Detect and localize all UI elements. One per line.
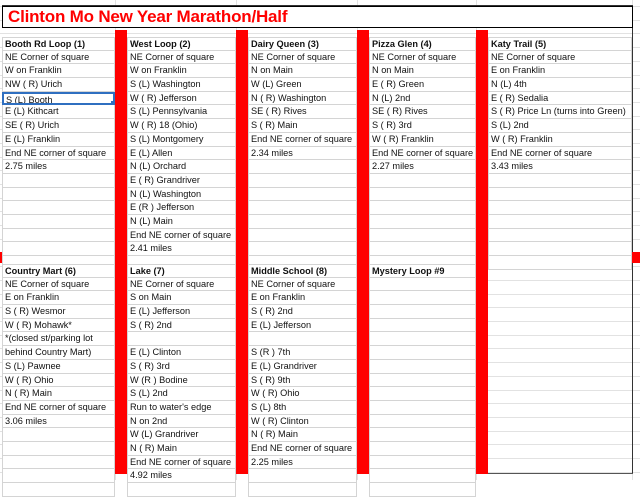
route-step-country-mart-0[interactable]: NE Corner of square [2,278,115,292]
route-step-west-loop-4[interactable]: S (L) Pennsylvania [127,105,236,119]
route-step-middle-school-8[interactable]: W ( R) Ohio [248,387,357,401]
route-step-empty[interactable] [248,469,357,483]
vertical-separator-bar [236,30,248,252]
route-step-empty[interactable] [2,174,115,188]
route-step-empty[interactable] [488,201,632,215]
page-title: Clinton Mo New Year Marathon/Half [8,7,287,27]
route-step-west-loop-12[interactable]: N (L) Main [127,215,236,229]
route-step-katy-trail-1[interactable]: E on Franklin [488,64,632,78]
route-step-empty[interactable] [488,256,632,270]
route-step-middle-school-5[interactable]: S (R ) 7th [248,346,357,360]
route-step-katy-trail-4[interactable]: S ( R) Price Ln (turns into Green) [488,105,632,119]
gridline-row [0,33,640,34]
vertical-separator-bar [357,30,369,252]
route-step-empty[interactable] [2,428,115,442]
route-step-empty[interactable] [488,229,632,243]
route-step-country-mart-10[interactable]: 3.06 miles [2,415,115,429]
vertical-separator-bar [357,262,369,474]
route-column-country-mart: Country Mart (6)NE Corner of squareE on … [2,264,115,497]
route-step-middle-school-11[interactable]: N ( R) Main [248,428,357,442]
route-step-booth-rd-loop-2[interactable]: NW ( R) Urich [2,78,115,92]
route-header-mystery-loop[interactable]: Mystery Loop #9 [369,264,476,278]
route-step-west-loop-10[interactable]: N (L) Washington [127,188,236,202]
route-step-empty[interactable] [248,188,357,202]
route-step-west-loop-2[interactable]: S (L) Washington [127,78,236,92]
route-step-empty[interactable] [369,428,476,442]
route-step-middle-school-2[interactable]: S ( R) 2nd [248,305,357,319]
route-step-empty[interactable] [2,215,115,229]
route-step-empty[interactable] [2,469,115,483]
vertical-separator-bar [236,262,248,474]
route-column-mystery-loop: Mystery Loop #9 [369,264,476,497]
route-header-katy-trail[interactable]: Katy Trail (5) [488,37,632,51]
selected-cell[interactable]: S (L) Booth [2,92,115,106]
route-step-west-loop-11[interactable]: E (R ) Jefferson [127,201,236,215]
route-step-empty[interactable] [2,456,115,470]
route-step-middle-school-0[interactable]: NE Corner of square [248,278,357,292]
route-step-lake-12[interactable]: N ( R) Main [127,442,236,456]
route-step-empty[interactable] [2,229,115,243]
route-column-middle-school: Middle School (8)NE Corner of squareE on… [248,264,357,497]
route-step-booth-rd-loop-6[interactable]: E (L) Franklin [2,133,115,147]
route-step-empty[interactable] [248,242,357,256]
route-step-katy-trail-3[interactable]: E ( R) Sedalia [488,92,632,106]
route-step-empty[interactable] [369,401,476,415]
route-column-west-loop: West Loop (2)NE Corner of squareW on Fra… [127,37,236,270]
route-step-middle-school-10[interactable]: W ( R) Clinton [248,415,357,429]
route-step-empty[interactable] [2,188,115,202]
route-step-lake-1[interactable]: S on Main [127,291,236,305]
route-step-empty[interactable] [369,278,476,292]
route-step-lake-9[interactable]: Run to water's edge [127,401,236,415]
route-step-empty[interactable] [369,305,476,319]
route-step-pizza-glen-0[interactable]: NE Corner of square [369,51,476,65]
route-header-dairy-queen[interactable]: Dairy Queen (3) [248,37,357,51]
route-step-country-mart-6[interactable]: S (L) Pawnee [2,360,115,374]
route-step-empty[interactable] [369,174,476,188]
route-step-booth-rd-loop-8[interactable]: 2.75 miles [2,160,115,174]
route-step-country-mart-2[interactable]: S ( R) Wesmor [2,305,115,319]
route-step-dairy-queen-1[interactable]: N on Main [248,64,357,78]
route-step-dairy-queen-6[interactable]: End NE corner of square [248,133,357,147]
route-step-katy-trail-2[interactable]: N (L) 4th [488,78,632,92]
route-step-west-loop-1[interactable]: W on Franklin [127,64,236,78]
route-step-middle-school-1[interactable]: E on Franklin [248,291,357,305]
route-step-dairy-queen-0[interactable]: NE Corner of square [248,51,357,65]
route-step-booth-rd-loop-0[interactable]: NE Corner of square [2,51,115,65]
route-step-lake-2[interactable]: E (L) Jefferson [127,305,236,319]
route-step-lake-8[interactable]: S (L) 2nd [127,387,236,401]
route-step-west-loop-0[interactable]: NE Corner of square [127,51,236,65]
route-step-pizza-glen-2[interactable]: E ( R) Green [369,78,476,92]
route-step-katy-trail-0[interactable]: NE Corner of square [488,51,632,65]
route-step-country-mart-7[interactable]: W ( R) Ohio [2,374,115,388]
route-step-empty[interactable] [369,188,476,202]
route-step-lake-0[interactable]: NE Corner of square [127,278,236,292]
route-step-empty[interactable] [248,229,357,243]
route-header-booth-rd-loop[interactable]: Booth Rd Loop (1) [2,37,115,51]
title-cell[interactable]: Clinton Mo New Year Marathon/Half [2,6,633,28]
route-step-empty[interactable] [2,483,115,497]
fill-handle[interactable] [110,100,115,105]
route-step-katy-trail-8[interactable]: 3.43 miles [488,160,632,174]
route-step-country-mart-9[interactable]: End NE corner of square [2,401,115,415]
route-header-west-loop[interactable]: West Loop (2) [127,37,236,51]
route-step-empty[interactable] [2,242,115,256]
route-header-country-mart[interactable]: Country Mart (6) [2,264,115,278]
route-step-empty[interactable] [369,319,476,333]
route-step-lake-11[interactable]: W (L) Grandriver [127,428,236,442]
route-step-west-loop-8[interactable]: N (L) Orchard [127,160,236,174]
route-step-pizza-glen-1[interactable]: N on Main [369,64,476,78]
vertical-separator-bar [476,262,488,474]
route-step-west-loop-7[interactable]: E (L) Allen [127,147,236,161]
route-step-empty[interactable] [369,456,476,470]
route-step-empty[interactable] [488,242,632,256]
route-column-lake: Lake (7)NE Corner of squareS on MainE (L… [127,264,236,497]
route-step-west-loop-6[interactable]: S (L) Montgomery [127,133,236,147]
route-step-empty[interactable] [369,469,476,483]
route-step-middle-school-7[interactable]: S ( R) 9th [248,374,357,388]
route-step-booth-rd-loop-1[interactable]: W on Franklin [2,64,115,78]
route-step-empty[interactable] [248,160,357,174]
route-step-lake-7[interactable]: W (R ) Bodine [127,374,236,388]
route-step-country-mart-1[interactable]: E on Franklin [2,291,115,305]
route-column-pizza-glen: Pizza Glen (4)NE Corner of squareN on Ma… [369,37,476,270]
route-step-empty[interactable] [369,374,476,388]
route-step-booth-rd-loop-5[interactable]: SE ( R) Urich [2,119,115,133]
route-step-empty[interactable] [2,442,115,456]
route-step-dairy-queen-7[interactable]: 2.34 miles [248,147,357,161]
route-step-empty[interactable] [488,188,632,202]
route-step-empty[interactable] [248,174,357,188]
route-step-empty[interactable] [369,332,476,346]
route-step-lake-14[interactable]: 4.92 miles [127,469,236,483]
vertical-separator-bar [115,262,127,474]
route-step-west-loop-14[interactable]: 2.41 miles [127,242,236,256]
route-step-empty[interactable] [369,415,476,429]
vertical-separator-bar [476,30,488,252]
route-column-dairy-queen: Dairy Queen (3)NE Corner of squareN on M… [248,37,357,270]
route-column-booth-rd-loop: Booth Rd Loop (1)NE Corner of squareW on… [2,37,115,270]
route-step-dairy-queen-4[interactable]: SE ( R) Rives [248,105,357,119]
route-step-lake-13[interactable]: End NE corner of square [127,456,236,470]
route-step-middle-school-3[interactable]: E (L) Jefferson [248,319,357,333]
route-step-middle-school-9[interactable]: S (L) 8th [248,401,357,415]
route-step-middle-school-13[interactable]: 2.25 miles [248,456,357,470]
route-step-empty[interactable] [369,360,476,374]
route-step-empty[interactable] [127,483,236,497]
route-step-lake-6[interactable]: S ( R) 3rd [127,360,236,374]
route-step-empty[interactable] [369,346,476,360]
route-step-empty[interactable] [248,201,357,215]
route-step-empty[interactable] [488,215,632,229]
route-step-empty[interactable] [369,291,476,305]
route-step-empty[interactable] [369,229,476,243]
route-step-empty[interactable] [248,332,357,346]
route-step-country-mart-5[interactable]: behind Country Mart) [2,346,115,360]
route-header-pizza-glen[interactable]: Pizza Glen (4) [369,37,476,51]
route-step-country-mart-8[interactable]: N ( R) Main [2,387,115,401]
route-step-lake-10[interactable]: N on 2nd [127,415,236,429]
route-step-empty[interactable] [248,483,357,497]
vertical-separator-bar [115,30,127,252]
route-step-empty[interactable] [369,215,476,229]
route-step-middle-school-6[interactable]: E (L) Grandriver [248,360,357,374]
route-step-dairy-queen-2[interactable]: W (L) Green [248,78,357,92]
route-step-pizza-glen-6[interactable]: W ( R) Franklin [369,133,476,147]
route-step-empty[interactable] [248,215,357,229]
route-step-pizza-glen-8[interactable]: 2.27 miles [369,160,476,174]
route-step-lake-3[interactable]: S ( R) 2nd [127,319,236,333]
route-step-empty[interactable] [369,483,476,497]
route-step-empty[interactable] [369,242,476,256]
route-step-pizza-glen-4[interactable]: SE ( R) Rives [369,105,476,119]
route-step-west-loop-3[interactable]: W ( R) Jefferson [127,92,236,106]
route-step-country-mart-3[interactable]: W ( R) Mohawk* [2,319,115,333]
route-header-lake[interactable]: Lake (7) [127,264,236,278]
route-step-west-loop-13[interactable]: End NE corner of square [127,229,236,243]
route-step-katy-trail-6[interactable]: W ( R) Franklin [488,133,632,147]
route-step-katy-trail-5[interactable]: S (L) 2nd [488,119,632,133]
route-column-katy-trail: Katy Trail (5)NE Corner of squareE on Fr… [488,37,632,270]
print-area-right-border [632,6,633,474]
spreadsheet-canvas: Clinton Mo New Year Marathon/Half Booth … [0,0,640,480]
route-step-country-mart-4[interactable]: *(closed st/parking lot [2,332,115,346]
route-step-booth-rd-loop-7[interactable]: End NE corner of square [2,147,115,161]
route-step-empty[interactable] [369,387,476,401]
route-step-empty[interactable] [369,442,476,456]
route-step-west-loop-5[interactable]: W ( R) 18 (Ohio) [127,119,236,133]
route-step-pizza-glen-7[interactable]: End NE corner of square [369,147,476,161]
route-step-empty[interactable] [127,332,236,346]
route-step-lake-5[interactable]: E (L) Clinton [127,346,236,360]
route-step-pizza-glen-3[interactable]: N (L) 2nd [369,92,476,106]
route-header-middle-school[interactable]: Middle School (8) [248,264,357,278]
route-step-empty[interactable] [369,201,476,215]
route-step-middle-school-12[interactable]: End NE corner of square [248,442,357,456]
route-step-empty[interactable] [488,174,632,188]
route-step-pizza-glen-5[interactable]: S ( R) 3rd [369,119,476,133]
route-step-dairy-queen-3[interactable]: N ( R) Washington [248,92,357,106]
route-step-dairy-queen-5[interactable]: S ( R) Main [248,119,357,133]
route-step-booth-rd-loop-4[interactable]: E (L) Kithcart [2,105,115,119]
route-step-katy-trail-7[interactable]: End NE corner of square [488,147,632,161]
route-step-empty[interactable] [2,201,115,215]
route-step-west-loop-9[interactable]: E ( R) Grandriver [127,174,236,188]
